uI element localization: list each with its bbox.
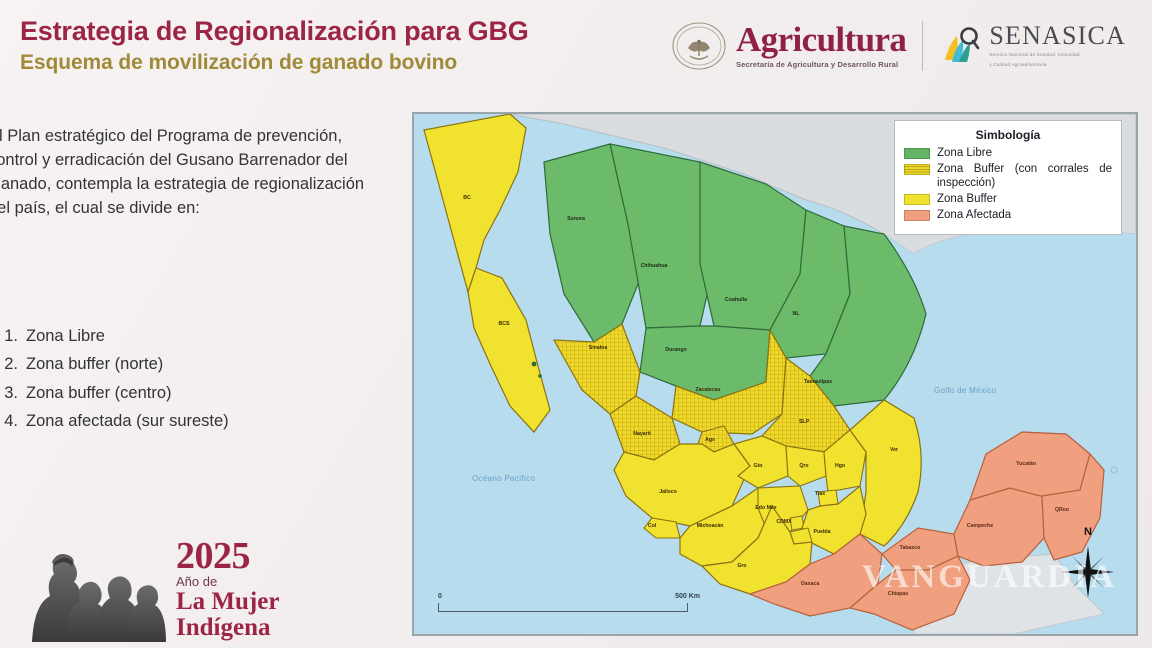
map-scale-bar: 0 500 Km xyxy=(438,590,688,612)
mexico-regionalization-map[interactable]: Océano Pacífico Golfo de México BC BCS S… xyxy=(412,112,1138,636)
agricultura-wordmark: Agricultura xyxy=(736,23,906,56)
slide-root: Estrategia de Regionalización para GBG E… xyxy=(0,0,1152,648)
list-item-label: Zona buffer (norte) xyxy=(26,350,163,378)
legend-row-zona-libre: Zona Libre xyxy=(904,146,1112,160)
legend-row-zona-buffer: Zona Buffer xyxy=(904,192,1112,206)
legend-label-zona-buffer: Zona Buffer xyxy=(937,192,997,206)
title-block: Estrategia de Regionalización para GBG E… xyxy=(20,16,529,75)
list-item-number: 3. xyxy=(0,379,18,407)
senasica-tagline-1: Servicio Nacional de Sanidad, Inocuidad xyxy=(989,52,1126,59)
legend-label-zona-libre: Zona Libre xyxy=(937,146,992,160)
brand-divider xyxy=(922,21,923,71)
list-item: 1. Zona Libre xyxy=(0,322,396,350)
list-item-number: 2. xyxy=(0,350,18,378)
legend-title: Simbología xyxy=(904,128,1112,142)
intro-paragraph: El Plan estratégico del Programa de prev… xyxy=(0,124,388,220)
senasica-tagline-2: y Calidad Agroalimentaria xyxy=(989,62,1126,69)
agricultura-brand: Agricultura Secretaría de Agricultura y … xyxy=(736,23,906,68)
list-item: 4. Zona afectada (sur sureste) xyxy=(0,407,396,435)
senasica-wordmark: SENASICA xyxy=(989,23,1126,49)
legend-swatch-zona-libre xyxy=(904,148,930,159)
list-item-number: 1. xyxy=(0,322,18,350)
year-line-3: Indígena xyxy=(176,615,279,641)
compass-rose-graphic xyxy=(1060,544,1116,600)
brand-bar: Agricultura Secretaría de Agricultura y … xyxy=(668,12,1126,80)
page-subtitle: Esquema de movilización de ganado bovino xyxy=(20,51,529,75)
list-item: 3. Zona buffer (centro) xyxy=(0,379,396,407)
legend-row-zona-afectada: Zona Afectada xyxy=(904,208,1112,222)
list-item: 2. Zona buffer (norte) xyxy=(0,350,396,378)
list-item-label: Zona buffer (centro) xyxy=(26,379,172,407)
list-item-label: Zona afectada (sur sureste) xyxy=(26,407,229,435)
legend-swatch-zona-afectada xyxy=(904,210,930,221)
year-2025-logo: 2025 Año de La Mujer Indígena xyxy=(24,534,279,642)
senasica-brand: SENASICA Servicio Nacional de Sanidad, I… xyxy=(939,23,1126,69)
senasica-logo-icon xyxy=(939,24,983,68)
year-text-block: 2025 Año de La Mujer Indígena xyxy=(176,540,279,640)
scale-label-start: 0 xyxy=(438,593,442,600)
page-title: Estrategia de Regionalización para GBG xyxy=(20,16,529,46)
legend-row-zona-buffer-corrales: Zona Buffer (con corrales de inspección) xyxy=(904,162,1112,190)
legend-label-zona-buffer-corrales: Zona Buffer (con corrales de inspección) xyxy=(937,162,1112,190)
legend-label-zona-afectada: Zona Afectada xyxy=(937,208,1011,222)
slide-header: Estrategia de Regionalización para GBG E… xyxy=(0,0,1152,104)
map-legend: Simbología Zona Libre Zona Buffer (con c… xyxy=(894,120,1122,235)
compass-rose-icon: N xyxy=(1060,526,1116,600)
indigenous-women-illustration xyxy=(24,538,170,642)
compass-north-label: N xyxy=(1060,526,1116,538)
year-number: 2025 xyxy=(176,540,279,573)
scale-label-end: 500 Km xyxy=(675,593,700,600)
list-item-label: Zona Libre xyxy=(26,322,105,350)
zone-list: 1. Zona Libre 2. Zona buffer (norte) 3. … xyxy=(0,322,396,436)
year-line-2: La Mujer xyxy=(176,589,279,615)
scale-bar-line xyxy=(438,603,688,612)
legend-swatch-zona-buffer-corrales xyxy=(904,164,930,175)
legend-swatch-zona-buffer xyxy=(904,194,930,205)
agricultura-tagline: Secretaría de Agricultura y Desarrollo R… xyxy=(736,60,906,69)
list-item-number: 4. xyxy=(0,407,18,435)
senasica-text-block: SENASICA Servicio Nacional de Sanidad, I… xyxy=(989,23,1126,69)
mexican-eagle-seal-icon xyxy=(668,18,730,74)
